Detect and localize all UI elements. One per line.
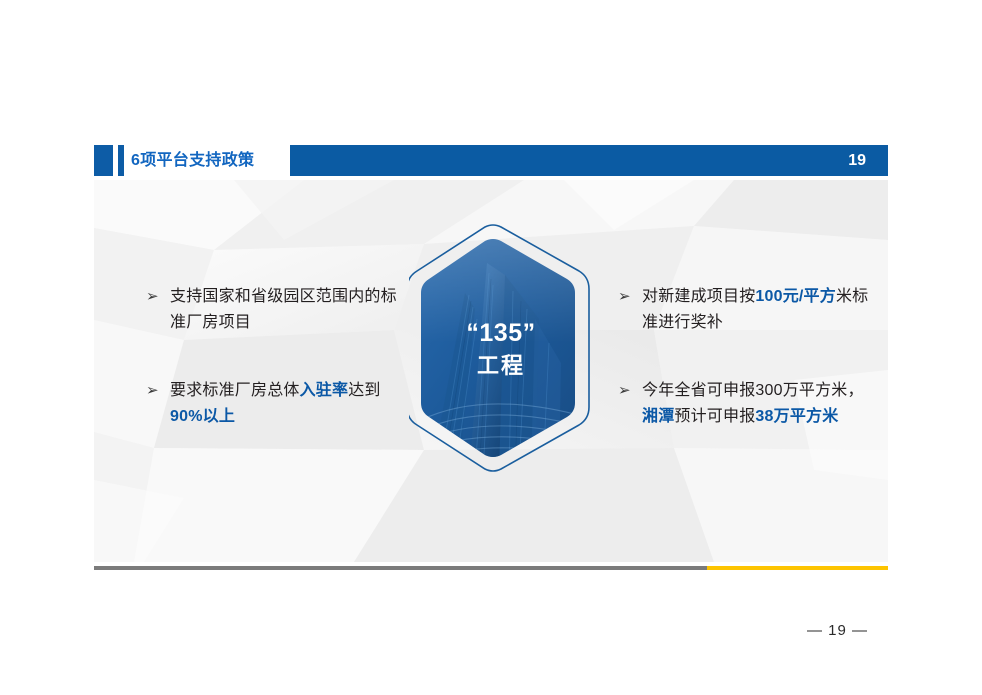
- page-number: — 19 —: [0, 622, 868, 639]
- header-page-badge: 19: [848, 145, 866, 176]
- bullet-occupancy-rate: 要求标准厂房总体入驻率达到90%以上: [170, 378, 398, 430]
- bullet-subsidy-rate: 对新建成项目按100元/平方米标准进行奖补: [642, 284, 870, 336]
- slide-body: ➢ 支持国家和省级园区范围内的标准厂房项目 ➢ 要求标准厂房总体入驻率达到90%…: [94, 180, 888, 562]
- list-item: ➢ 今年全省可申报300万平方米，湘潭预计可申报38万平方米: [618, 378, 870, 430]
- footer-divider-gray: [94, 566, 707, 570]
- hexagon-badge: “135” 工程: [409, 223, 593, 473]
- slide-canvas: 6项平台支持政策 19: [0, 0, 982, 695]
- slide-header: 6项平台支持政策 19: [94, 145, 888, 176]
- arrow-bullet-icon: ➢: [146, 284, 170, 310]
- header-blue-bar: 19: [290, 145, 888, 176]
- bullet-standard-factory-scope: 支持国家和省级园区范围内的标准厂房项目: [170, 284, 398, 336]
- footer-divider-gold: [707, 566, 888, 570]
- header-accent-block-large: [94, 145, 113, 176]
- hexagon-outline: [409, 223, 593, 473]
- list-item: ➢ 要求标准厂房总体入驻率达到90%以上: [146, 378, 398, 430]
- list-item: ➢ 对新建成项目按100元/平方米标准进行奖补: [618, 284, 870, 336]
- arrow-bullet-icon: ➢: [618, 378, 642, 404]
- page-title: 6项平台支持政策: [131, 148, 254, 173]
- arrow-bullet-icon: ➢: [618, 284, 642, 310]
- footer-divider: [94, 566, 888, 570]
- header-accent-block-small: [118, 145, 124, 176]
- bullet-declaration-quota: 今年全省可申报300万平方米，湘潭预计可申报38万平方米: [642, 378, 870, 430]
- list-item: ➢ 支持国家和省级园区范围内的标准厂房项目: [146, 284, 398, 336]
- arrow-bullet-icon: ➢: [146, 378, 170, 404]
